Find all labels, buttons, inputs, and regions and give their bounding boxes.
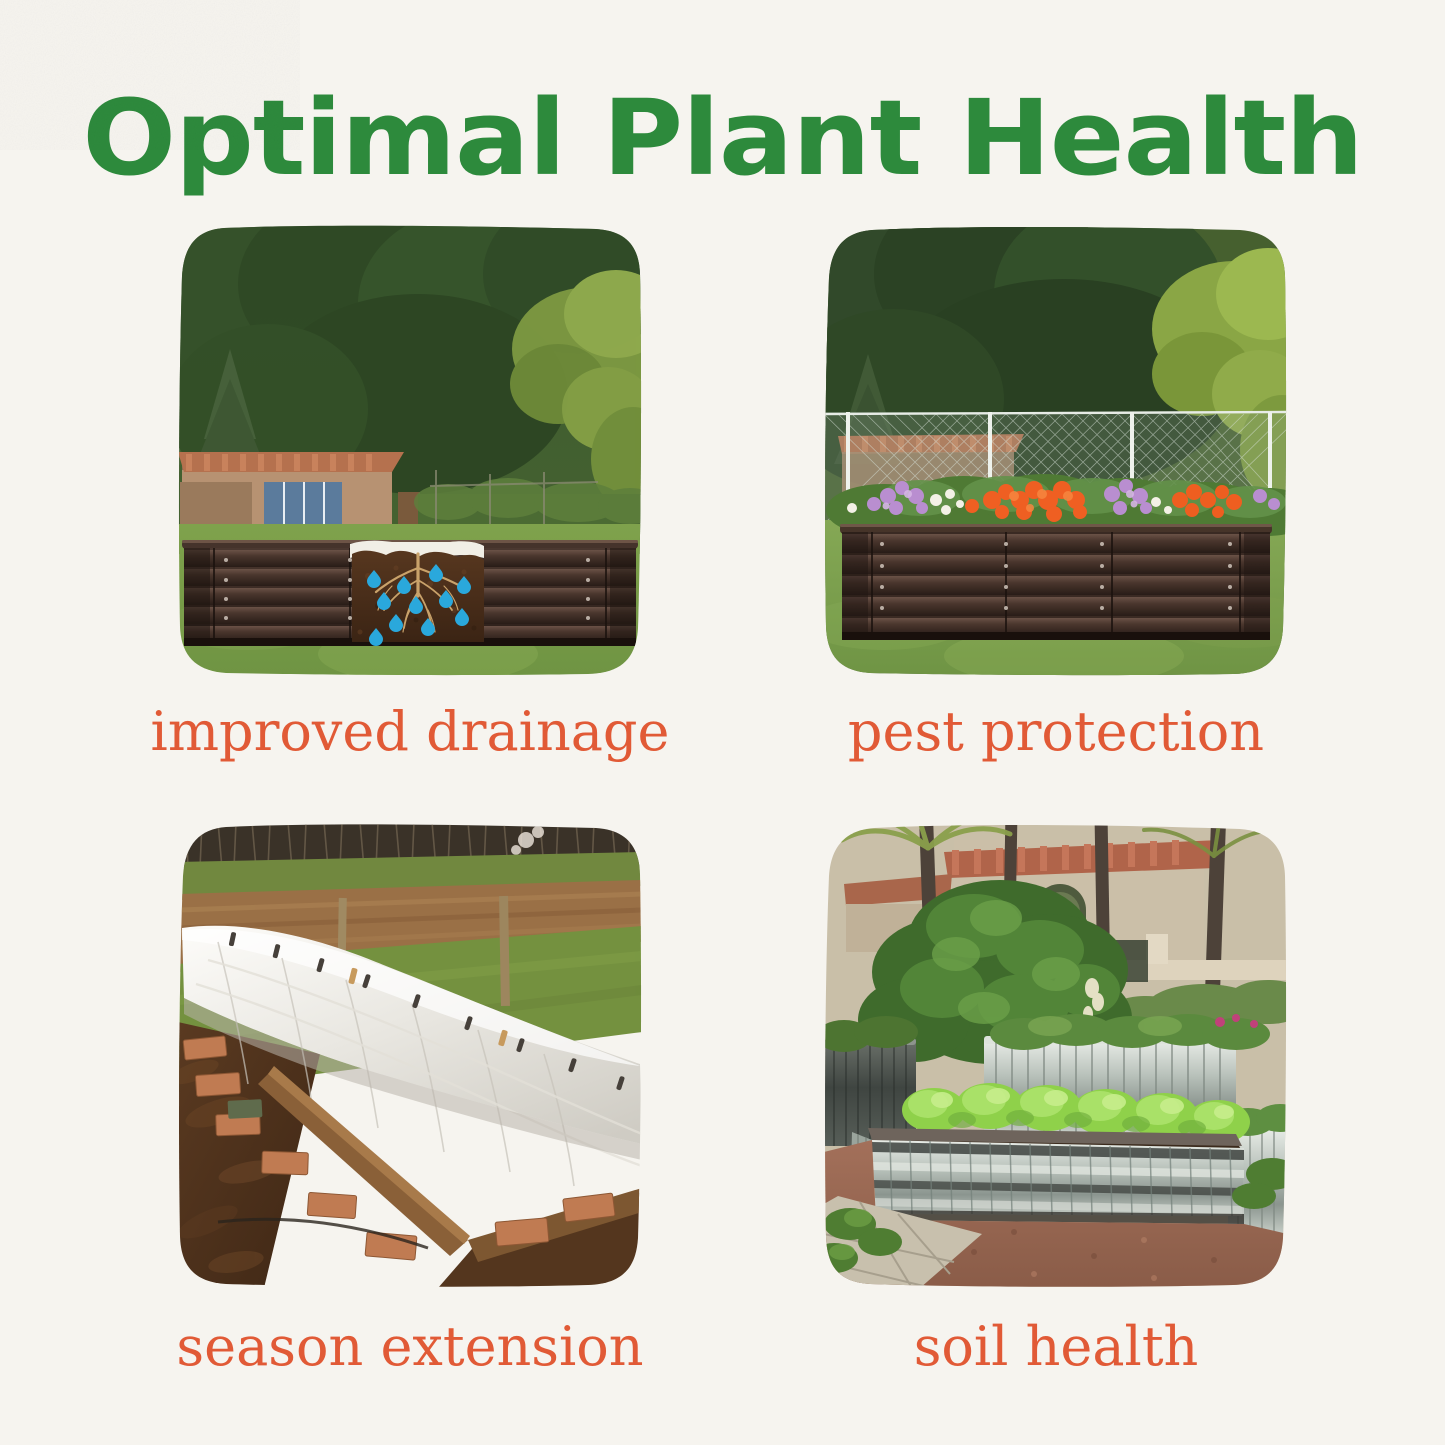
raised-bed-far-left xyxy=(824,1016,918,1146)
pest-protection-scene xyxy=(824,224,1288,676)
caption-improved-drainage: improved drainage xyxy=(118,705,702,759)
infographic-page: Optimal Plant Health xyxy=(0,0,1445,1445)
soil-health-photo xyxy=(824,822,1288,1288)
soil-cutaway-section xyxy=(350,541,484,646)
pest-protection-photo xyxy=(824,224,1288,676)
improved-drainage-scene xyxy=(178,224,642,676)
soil-health-scene xyxy=(824,822,1288,1288)
tile-season-extension xyxy=(178,822,642,1288)
caption-soil-health: soil health xyxy=(764,1320,1348,1374)
tile-pest-protection xyxy=(824,224,1288,676)
page-title: Optimal Plant Health xyxy=(0,86,1445,190)
tile-soil-health xyxy=(824,822,1288,1288)
raised-bed-lettuce xyxy=(850,1083,1250,1224)
caption-season-extension: season extension xyxy=(118,1320,702,1374)
raised-bed-brown xyxy=(840,524,1272,640)
tile-improved-drainage xyxy=(178,224,642,676)
season-extension-scene xyxy=(178,822,642,1288)
caption-pest-protection: pest protection xyxy=(764,705,1348,759)
season-extension-photo xyxy=(178,822,642,1288)
improved-drainage-photo xyxy=(178,224,642,676)
